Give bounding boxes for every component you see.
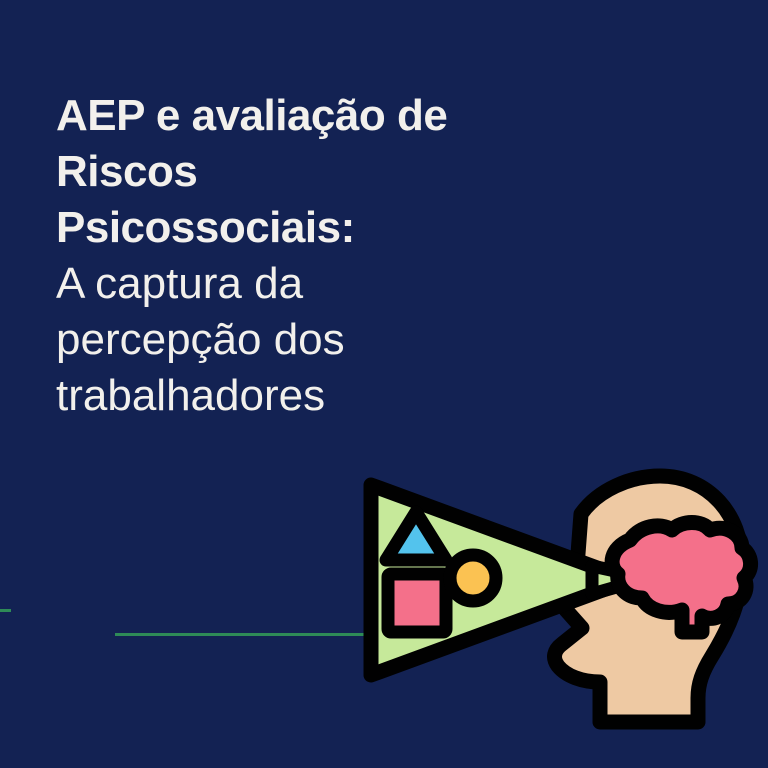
perception-illustration xyxy=(330,460,768,768)
square-shape xyxy=(388,574,446,632)
subtitle-line-3: trabalhadores xyxy=(56,368,576,424)
title-line-1: AEP e avaliação de xyxy=(56,88,576,144)
slide-canvas: AEP e avaliação de Riscos Psicossociais:… xyxy=(0,0,768,768)
circle-shape xyxy=(450,555,496,601)
page-title: AEP e avaliação de Riscos Psicossociais:… xyxy=(56,88,576,424)
subtitle-line-2: percepção dos xyxy=(56,312,576,368)
subtitle-line-1: A captura da xyxy=(56,256,576,312)
left-edge-accent-rule xyxy=(0,609,11,612)
title-line-3: Psicossociais: xyxy=(56,200,576,256)
title-line-2: Riscos xyxy=(56,144,576,200)
